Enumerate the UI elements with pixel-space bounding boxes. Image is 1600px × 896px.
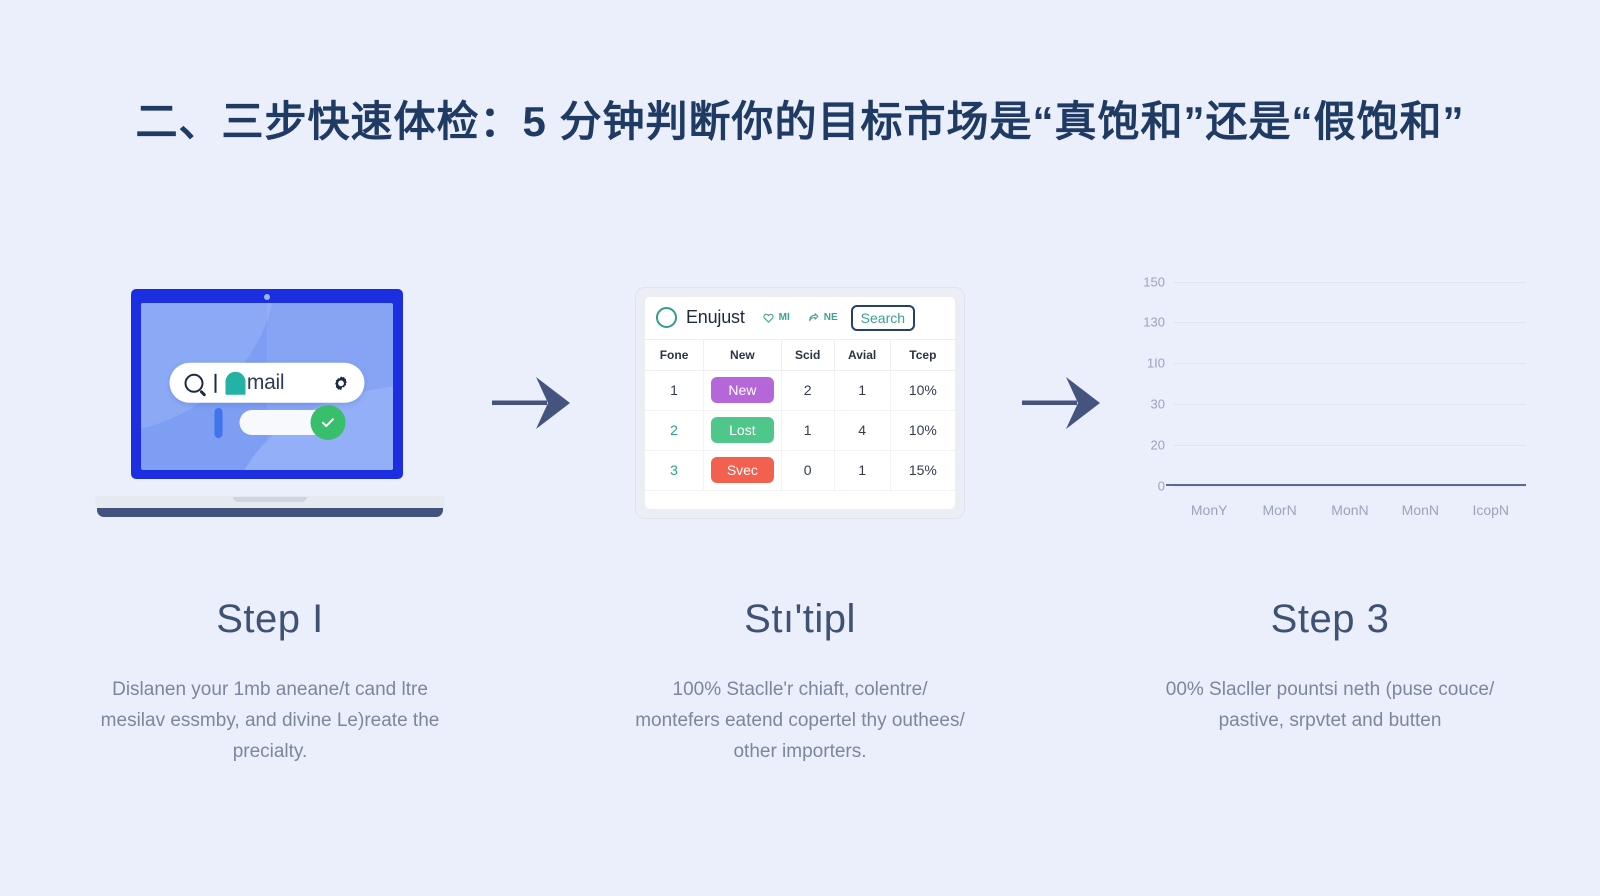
chart-bars bbox=[1174, 280, 1526, 484]
laptop-notch bbox=[233, 497, 307, 502]
header-action-share-label: NE bbox=[824, 312, 838, 323]
status-badge: Lost bbox=[711, 417, 774, 443]
table-card-title: Enujust bbox=[686, 307, 745, 328]
arrow-right-2 bbox=[1018, 270, 1113, 535]
toggle-marker bbox=[215, 408, 223, 438]
chart-x-label: MonN bbox=[1329, 502, 1371, 518]
chart-y-tick: 1I0 bbox=[1147, 356, 1165, 371]
step-column-3: 1501301I030200 MonYMorNMonNMonNIcopN Ste… bbox=[1120, 270, 1540, 736]
table-card: Enujust MI NE bbox=[635, 287, 965, 519]
chart-x-axis bbox=[1166, 484, 1526, 486]
search-icon bbox=[185, 373, 204, 392]
column-header-scid: Scid bbox=[781, 340, 834, 371]
cell-avial: 4 bbox=[834, 410, 890, 450]
search-button[interactable]: Search bbox=[851, 305, 915, 331]
table-row[interactable]: 3 Svec 0 1 15% bbox=[645, 450, 955, 490]
cell-scid: 1 bbox=[781, 410, 834, 450]
step-description-3: 00% Slacller pountsi neth (puse couce/ p… bbox=[1160, 674, 1500, 736]
chart-y-tick: 150 bbox=[1143, 274, 1165, 289]
laptop-illustration: mail bbox=[60, 270, 480, 535]
cell-avial: 1 bbox=[834, 450, 890, 490]
steps-row: mail bbox=[60, 270, 1540, 767]
page-title: 二、三步快速体检：5 分钟判断你的目标市场是“真饱和”还是“假饱和” bbox=[0, 88, 1600, 149]
step-title-1: Step I bbox=[216, 597, 324, 642]
cell-tcep: 10% bbox=[890, 370, 955, 410]
gear-icon[interactable] bbox=[333, 374, 350, 391]
table-header-row: Fone New Scid Avial Tcep bbox=[645, 340, 955, 371]
table-row[interactable]: 1 New 2 1 10% bbox=[645, 370, 955, 410]
column-header-new: New bbox=[704, 340, 782, 371]
laptop: mail bbox=[95, 289, 445, 517]
header-action-share[interactable]: NE bbox=[807, 311, 838, 324]
share-icon bbox=[807, 311, 820, 324]
chart-y-tick: 30 bbox=[1151, 396, 1165, 411]
header-action-favorite-label: MI bbox=[779, 312, 790, 323]
chart-x-label: MonN bbox=[1399, 502, 1441, 518]
table-row[interactable]: 2 Lost 1 4 10% bbox=[645, 410, 955, 450]
status-badge: New bbox=[711, 377, 774, 403]
chart-gridline: 0 bbox=[1174, 486, 1526, 487]
chart-x-label: MonY bbox=[1188, 502, 1230, 518]
cell-status: Lost bbox=[704, 410, 782, 450]
cell-tcep: 10% bbox=[890, 410, 955, 450]
chart-x-labels: MonYMorNMonNMonNIcopN bbox=[1174, 502, 1526, 518]
arrow-right-1 bbox=[488, 270, 583, 535]
mail-icon bbox=[226, 371, 246, 394]
step-description-1: Dislanen your 1mb aneane/t cand ltre mes… bbox=[100, 674, 440, 767]
status-badge: Svec bbox=[711, 457, 774, 483]
laptop-lid: mail bbox=[131, 289, 403, 479]
text-cursor-icon bbox=[215, 373, 217, 392]
bar-chart: 1501301I030200 MonYMorNMonNMonNIcopN bbox=[1130, 274, 1530, 532]
toggle-knob[interactable] bbox=[311, 405, 346, 440]
step-column-2: Enujust MI NE bbox=[590, 270, 1010, 767]
check-icon bbox=[320, 414, 337, 431]
circle-icon bbox=[656, 307, 677, 328]
cell-row-number: 1 bbox=[645, 370, 704, 410]
search-input-value: mail bbox=[247, 371, 284, 395]
step-title-3: Step 3 bbox=[1271, 597, 1390, 642]
column-header-avial: Avial bbox=[834, 340, 890, 371]
cell-row-number: 3 bbox=[645, 450, 704, 490]
cell-tcep: 15% bbox=[890, 450, 955, 490]
data-table: Fone New Scid Avial Tcep 1 Ne bbox=[645, 340, 955, 491]
column-header-tcep: Tcep bbox=[890, 340, 955, 371]
chart-x-label: IcopN bbox=[1470, 502, 1512, 518]
bar-chart-illustration: 1501301I030200 MonYMorNMonNMonNIcopN bbox=[1120, 270, 1540, 535]
header-action-favorite[interactable]: MI bbox=[762, 311, 790, 324]
cell-status: Svec bbox=[704, 450, 782, 490]
cell-scid: 0 bbox=[781, 450, 834, 490]
chart-y-tick: 130 bbox=[1143, 315, 1165, 330]
step-column-1: mail bbox=[60, 270, 480, 767]
step-description-2: 100% Staclle'r chiaft, colentre/ montefe… bbox=[630, 674, 970, 767]
step-title-2: Stı'tipl bbox=[744, 597, 856, 642]
table-card-inner: Enujust MI NE bbox=[645, 297, 955, 509]
cell-avial: 1 bbox=[834, 370, 890, 410]
webcam-icon bbox=[264, 294, 270, 300]
heart-icon bbox=[762, 311, 775, 324]
laptop-screen: mail bbox=[141, 303, 393, 470]
search-bar[interactable]: mail bbox=[170, 363, 365, 403]
cell-scid: 2 bbox=[781, 370, 834, 410]
chart-x-label: MorN bbox=[1259, 502, 1301, 518]
toggle-track[interactable] bbox=[240, 410, 340, 435]
column-header-fone: Fone bbox=[645, 340, 704, 371]
table-card-header: Enujust MI NE bbox=[645, 297, 955, 340]
chart-y-tick: 20 bbox=[1151, 437, 1165, 452]
cell-row-number: 2 bbox=[645, 410, 704, 450]
chart-y-tick: 0 bbox=[1158, 478, 1165, 493]
laptop-foot bbox=[97, 508, 443, 517]
toggle-control[interactable] bbox=[215, 408, 340, 438]
table-card-illustration: Enujust MI NE bbox=[590, 270, 1010, 535]
cell-status: New bbox=[704, 370, 782, 410]
chart-plot-area: 1501301I030200 bbox=[1174, 282, 1526, 486]
